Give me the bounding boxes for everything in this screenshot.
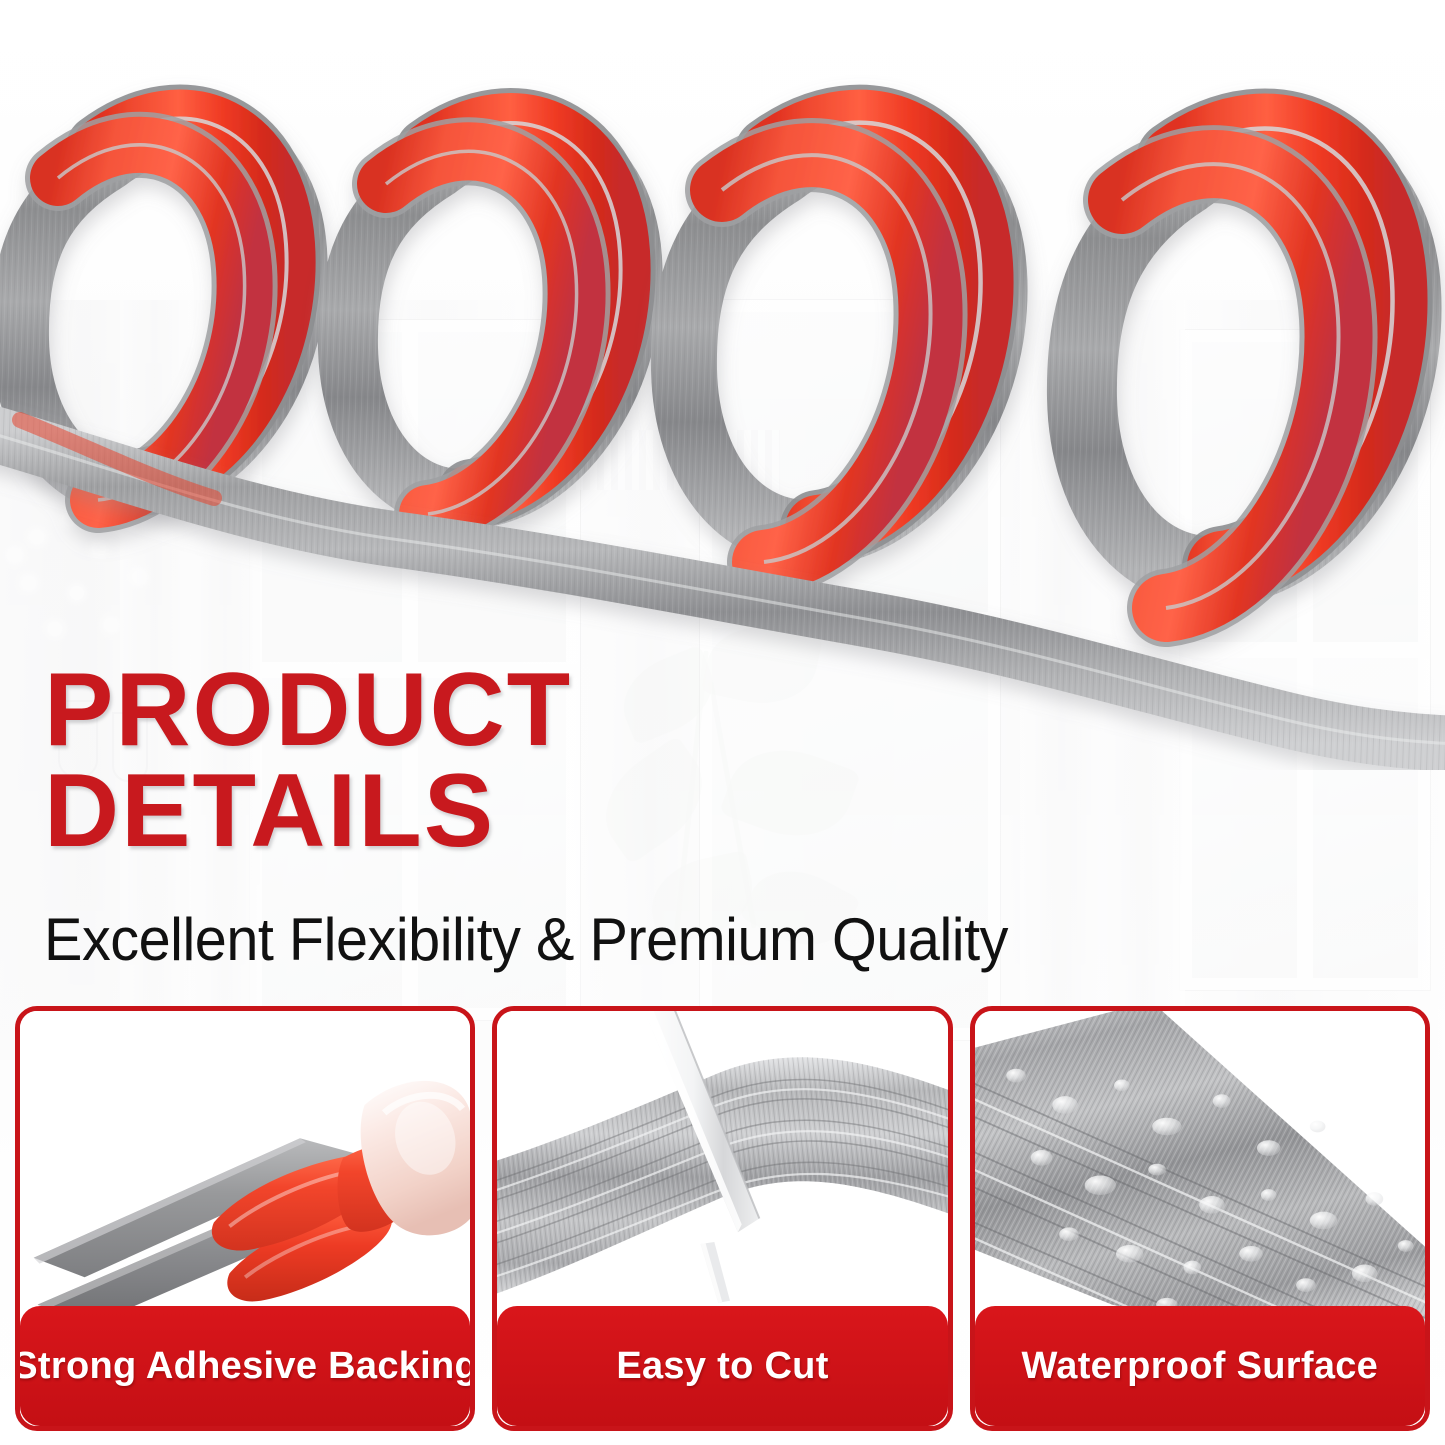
headline-block: PRODUCT DETAILS [44,660,1114,862]
feature-caption-waterproof: Waterproof Surface [975,1306,1425,1426]
coil-2 [348,123,633,514]
coil-4 [1082,129,1407,608]
page-subtitle: Excellent Flexibility & Premium Quality [44,905,1119,974]
feature-card-waterproof[interactable]: Waterproof Surface [970,1006,1430,1431]
feature-card-adhesive[interactable]: Strong Adhesive Backing [15,1006,475,1431]
feature-caption-adhesive: Strong Adhesive Backing [20,1306,470,1426]
feature-card-row: Strong Adhesive Backing [15,1006,1430,1431]
product-detail-image: PRODUCT DETAILS Excellent Flexibility & … [0,0,1445,1445]
feature-caption-cut: Easy to Cut [497,1306,947,1426]
feature-card-cut[interactable]: Easy to Cut [492,1006,952,1431]
coil-3 [684,123,995,562]
page-title: PRODUCT DETAILS [44,660,1114,862]
